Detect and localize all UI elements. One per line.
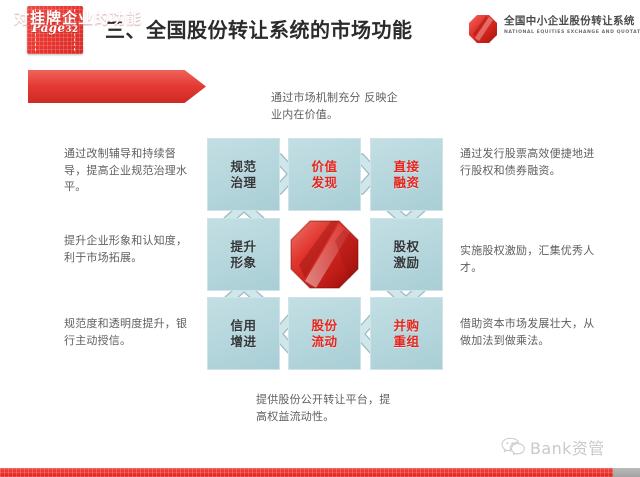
note-left-3: 规范度和透明度提升，银行主动授信。 [64,316,197,349]
bottom-bar-gray-segment [613,468,640,477]
diagram-cell-tisheng-xingxiang[interactable]: 提升 形象 [207,218,280,291]
diagram-cell-binggou-chongzu[interactable]: 并购 重组 [370,297,443,370]
section-banner-label: 对挂牌企业的功能 [14,7,142,28]
cycle-diagram: 规范 治理 价值 发现 直接 融资 提升 形象 股权 激励 信用 增进 股份 流… [207,138,443,370]
wechat-icon [500,436,526,456]
note-bottom: 提供股份公开转让平台，提高权益流动性。 [256,392,396,425]
diagram-cell-guquan-jili[interactable]: 股权 激励 [370,218,443,291]
cell-label: 信用 增进 [207,318,280,350]
diagram-cell-guifan-zhili[interactable]: 规范 治理 [207,138,280,211]
brand-name-cn: 全国中小企业股份转让系统 [504,15,640,28]
page-title: 三、全国股份转让系统的市场功能 [105,14,413,43]
brand-name-en: NATIONAL EQUITIES EXCHANGE AND QUOTATION… [504,30,640,35]
note-top: 通过市场机制充分 反映企业内在价值。 [271,90,401,123]
diagram-cell-jiazhi-faxian[interactable]: 价值 发现 [288,138,361,211]
note-left-1: 通过改制辅导和持续督导，提高企业规范治理水平。 [64,146,197,196]
cell-label: 提升 形象 [207,239,280,271]
bottom-bar-red-segment [0,468,613,477]
diagram-cell-zhijie-rongzi[interactable]: 直接 融资 [370,138,443,211]
bottom-bar [0,468,640,477]
cell-label: 价值 发现 [288,159,361,191]
cell-label: 并购 重组 [370,318,443,350]
note-right-1: 通过发行股票高效便捷地进行股权和债券融资。 [460,146,600,179]
cell-label: 直接 融资 [370,159,443,191]
watermark: Bank资管 [500,434,632,458]
nationa-equities-octagon-icon [289,219,360,290]
cell-label: 股权 激励 [370,239,443,271]
section-banner [28,70,206,103]
diagram-cell-gufen-liudong[interactable]: 股份 流动 [288,297,361,370]
note-left-2: 提升企业形象和认知度，利于市场拓展。 [64,233,197,266]
cell-label: 股份 流动 [288,318,361,350]
brand-logo: 全国中小企业股份转让系统 NATIONAL EQUITIES EXCHANGE … [468,13,633,47]
note-right-2: 实施股权激励，汇集优秀人才。 [460,243,600,276]
note-right-3: 借助资本市场发展壮大，从做加法到做乘法。 [460,316,600,349]
watermark-text: Bank资管 [530,435,605,459]
octagon-emblem-icon [468,14,498,44]
cell-label: 规范 治理 [207,159,280,191]
diagram-cell-xinyong-zengjin[interactable]: 信用 增进 [207,297,280,370]
brand-text-block: 全国中小企业股份转让系统 NATIONAL EQUITIES EXCHANGE … [504,15,640,35]
